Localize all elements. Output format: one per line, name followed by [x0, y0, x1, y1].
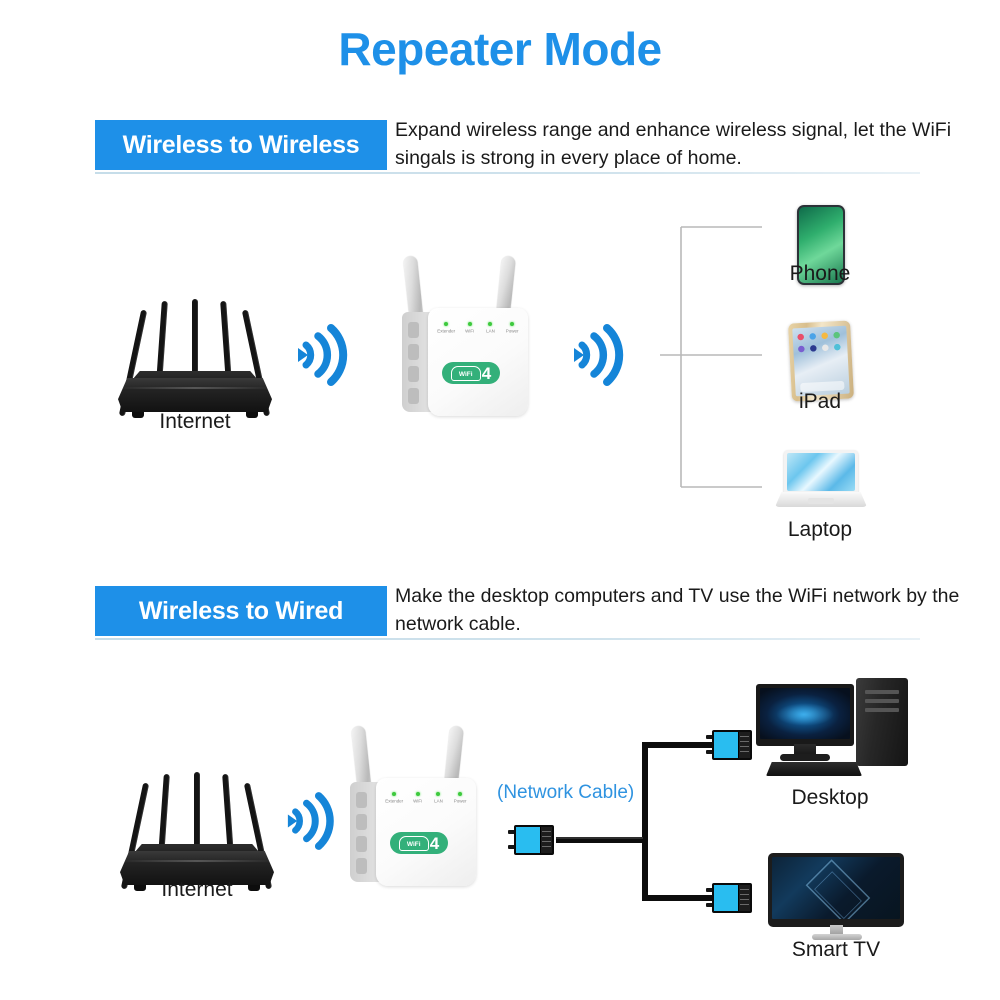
wifi4-badge: WiFi 4: [390, 832, 448, 854]
section-2-description: Make the desktop computers and TV use th…: [395, 583, 1000, 638]
led-extender: Extender: [387, 792, 401, 803]
led-dot-icon: [444, 322, 448, 326]
wifi-mark-icon: WiFi: [399, 836, 429, 851]
router-device-bottom: [112, 768, 282, 893]
led-power: Power: [507, 322, 517, 333]
wifi-mark-icon: WiFi: [451, 366, 481, 381]
label-phone: Phone: [760, 262, 880, 286]
network-cable-label: (Network Cable): [497, 782, 634, 804]
rj45-grip-ridge: [542, 841, 551, 842]
led-power: Power: [455, 792, 465, 803]
repeater-vent: [356, 814, 367, 830]
led-dot-icon: [468, 322, 472, 326]
led-extender: Extender: [439, 322, 453, 333]
rj45-grip-ridge: [542, 846, 551, 847]
repeater-vent: [408, 322, 419, 338]
rj45-grip-ridge: [542, 836, 551, 837]
wifi4-badge: WiFi 4: [442, 362, 500, 384]
laptop-lid: [784, 450, 858, 494]
label-smart-tv: Smart TV: [746, 938, 926, 962]
laptop-screen: [787, 453, 855, 491]
rj45-grip: [738, 732, 750, 758]
section-2-badge: Wireless to Wired: [95, 586, 387, 636]
rj45-grip-ridge: [740, 889, 749, 890]
section-1-divider: [95, 172, 920, 174]
router-device-top: [110, 295, 280, 420]
led-dot-icon: [458, 792, 462, 796]
tv-panel: [768, 853, 904, 927]
led-lan: LAN: [487, 322, 494, 333]
page-title: Repeater Mode: [0, 22, 1000, 76]
rj45-connector-tv: [706, 883, 752, 913]
section-1-description: Expand wireless range and enhance wirele…: [395, 117, 1000, 172]
section-1-badge: Wireless to Wireless: [95, 120, 387, 170]
led-wifi: WiFi: [414, 792, 421, 803]
label-internet-bottom: Internet: [112, 878, 282, 902]
rj45-shell: [712, 883, 752, 913]
led-dot-icon: [488, 322, 492, 326]
section-2-header: Wireless to Wired Make the desktop compu…: [95, 586, 920, 644]
desktop-keyboard: [766, 762, 862, 776]
rj45-grip-ridge: [740, 751, 749, 752]
rj45-grip-ridge: [740, 899, 749, 900]
desktop-screen: [760, 688, 850, 739]
led-dot-icon: [416, 792, 420, 796]
rj45-grip-ridge: [740, 894, 749, 895]
label-desktop: Desktop: [740, 786, 920, 810]
section-1-header: Wireless to Wireless Expand wireless ran…: [95, 120, 920, 178]
tower-drive-bay: [865, 699, 899, 703]
tower-drive-bay: [865, 690, 899, 694]
led-dot-icon: [436, 792, 440, 796]
repeater-vent: [408, 344, 419, 360]
television-icon: [768, 853, 904, 943]
wifi-signal-icon: [572, 322, 632, 388]
rj45-shell: [712, 730, 752, 760]
led-dot-icon: [510, 322, 514, 326]
laptop-icon: [775, 450, 867, 512]
desktop-computer-icon: [752, 678, 912, 786]
wifi-signal-icon: [286, 790, 342, 852]
desktop-monitor-base: [780, 754, 830, 761]
repeater-led-row: Extender WiFi LAN Power: [432, 322, 524, 333]
rj45-grip: [738, 885, 750, 911]
wifi-repeater-bottom: Extender WiFi LAN Power WiFi 4: [336, 720, 486, 890]
repeater-led-row: Extender WiFi LAN Power: [380, 792, 472, 803]
repeater-front-face: Extender WiFi LAN Power WiFi 4: [428, 308, 528, 416]
tower-drive-bay: [865, 708, 899, 712]
repeater-front-face: Extender WiFi LAN Power WiFi 4: [376, 778, 476, 886]
rj45-grip-ridge: [740, 736, 749, 737]
repeater-mode-infographic: Repeater Mode Wireless to Wireless Expan…: [0, 0, 1000, 1000]
rj45-grip: [540, 827, 552, 853]
rj45-grip-ridge: [542, 831, 551, 832]
led-lan: LAN: [435, 792, 442, 803]
tv-screen: [772, 857, 900, 919]
desktop-monitor: [756, 684, 854, 746]
wifi-signal-icon: [296, 322, 356, 388]
label-laptop: Laptop: [760, 518, 880, 542]
repeater-vent: [408, 366, 419, 382]
tablet-screen: [792, 326, 849, 397]
rj45-grip-ridge: [740, 741, 749, 742]
led-wifi: WiFi: [466, 322, 473, 333]
repeater-vent: [408, 388, 419, 404]
rj45-grip-ridge: [740, 746, 749, 747]
laptop-base: [775, 492, 867, 507]
label-internet-top: Internet: [110, 410, 280, 434]
desktop-tower: [856, 678, 908, 766]
repeater-vent: [356, 858, 367, 874]
repeater-vent: [356, 792, 367, 808]
rj45-shell: [514, 825, 554, 855]
label-ipad: iPad: [760, 390, 880, 414]
router-body: [118, 378, 272, 412]
repeater-vent: [356, 836, 367, 852]
rj45-connector-desktop: [706, 730, 752, 760]
section-2-divider: [95, 638, 920, 640]
rj45-grip-ridge: [740, 904, 749, 905]
rj45-connector-repeater: [508, 825, 554, 855]
led-dot-icon: [392, 792, 396, 796]
wifi-repeater-top: Extender WiFi LAN Power WiFi 4: [388, 250, 538, 420]
